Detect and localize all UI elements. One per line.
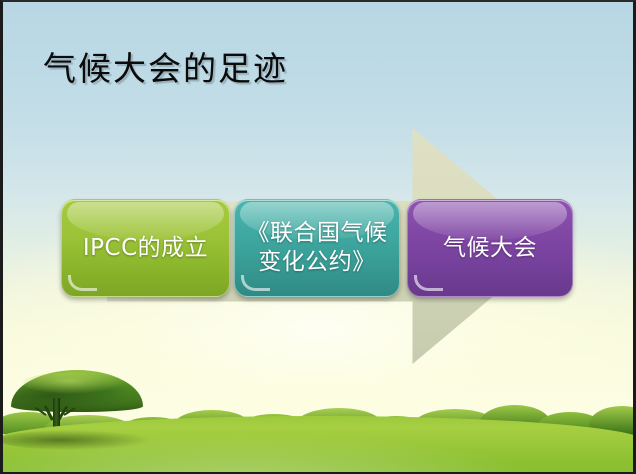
tree-canopy-highlight [23,372,127,394]
step-box-climate-conference[interactable]: 气候大会 [407,199,573,297]
landscape-image [3,364,633,472]
page-title: 气候大会的足迹 [43,42,288,90]
step-box-ipcc[interactable]: IPCC的成立 [61,199,230,297]
step-box-ipcc-label: IPCC的成立 [75,234,216,263]
step-box-unfccc-label: 《联合国气候变化公约》 [235,219,399,276]
tree-shadow [0,430,149,450]
step-box-unfccc[interactable]: 《联合国气候变化公约》 [234,199,400,297]
step-box-climate-conference-label: 气候大会 [435,234,545,263]
presentation-slide: IPCC的成立 《联合国气候变化公约》 气候大会 [0,0,636,474]
